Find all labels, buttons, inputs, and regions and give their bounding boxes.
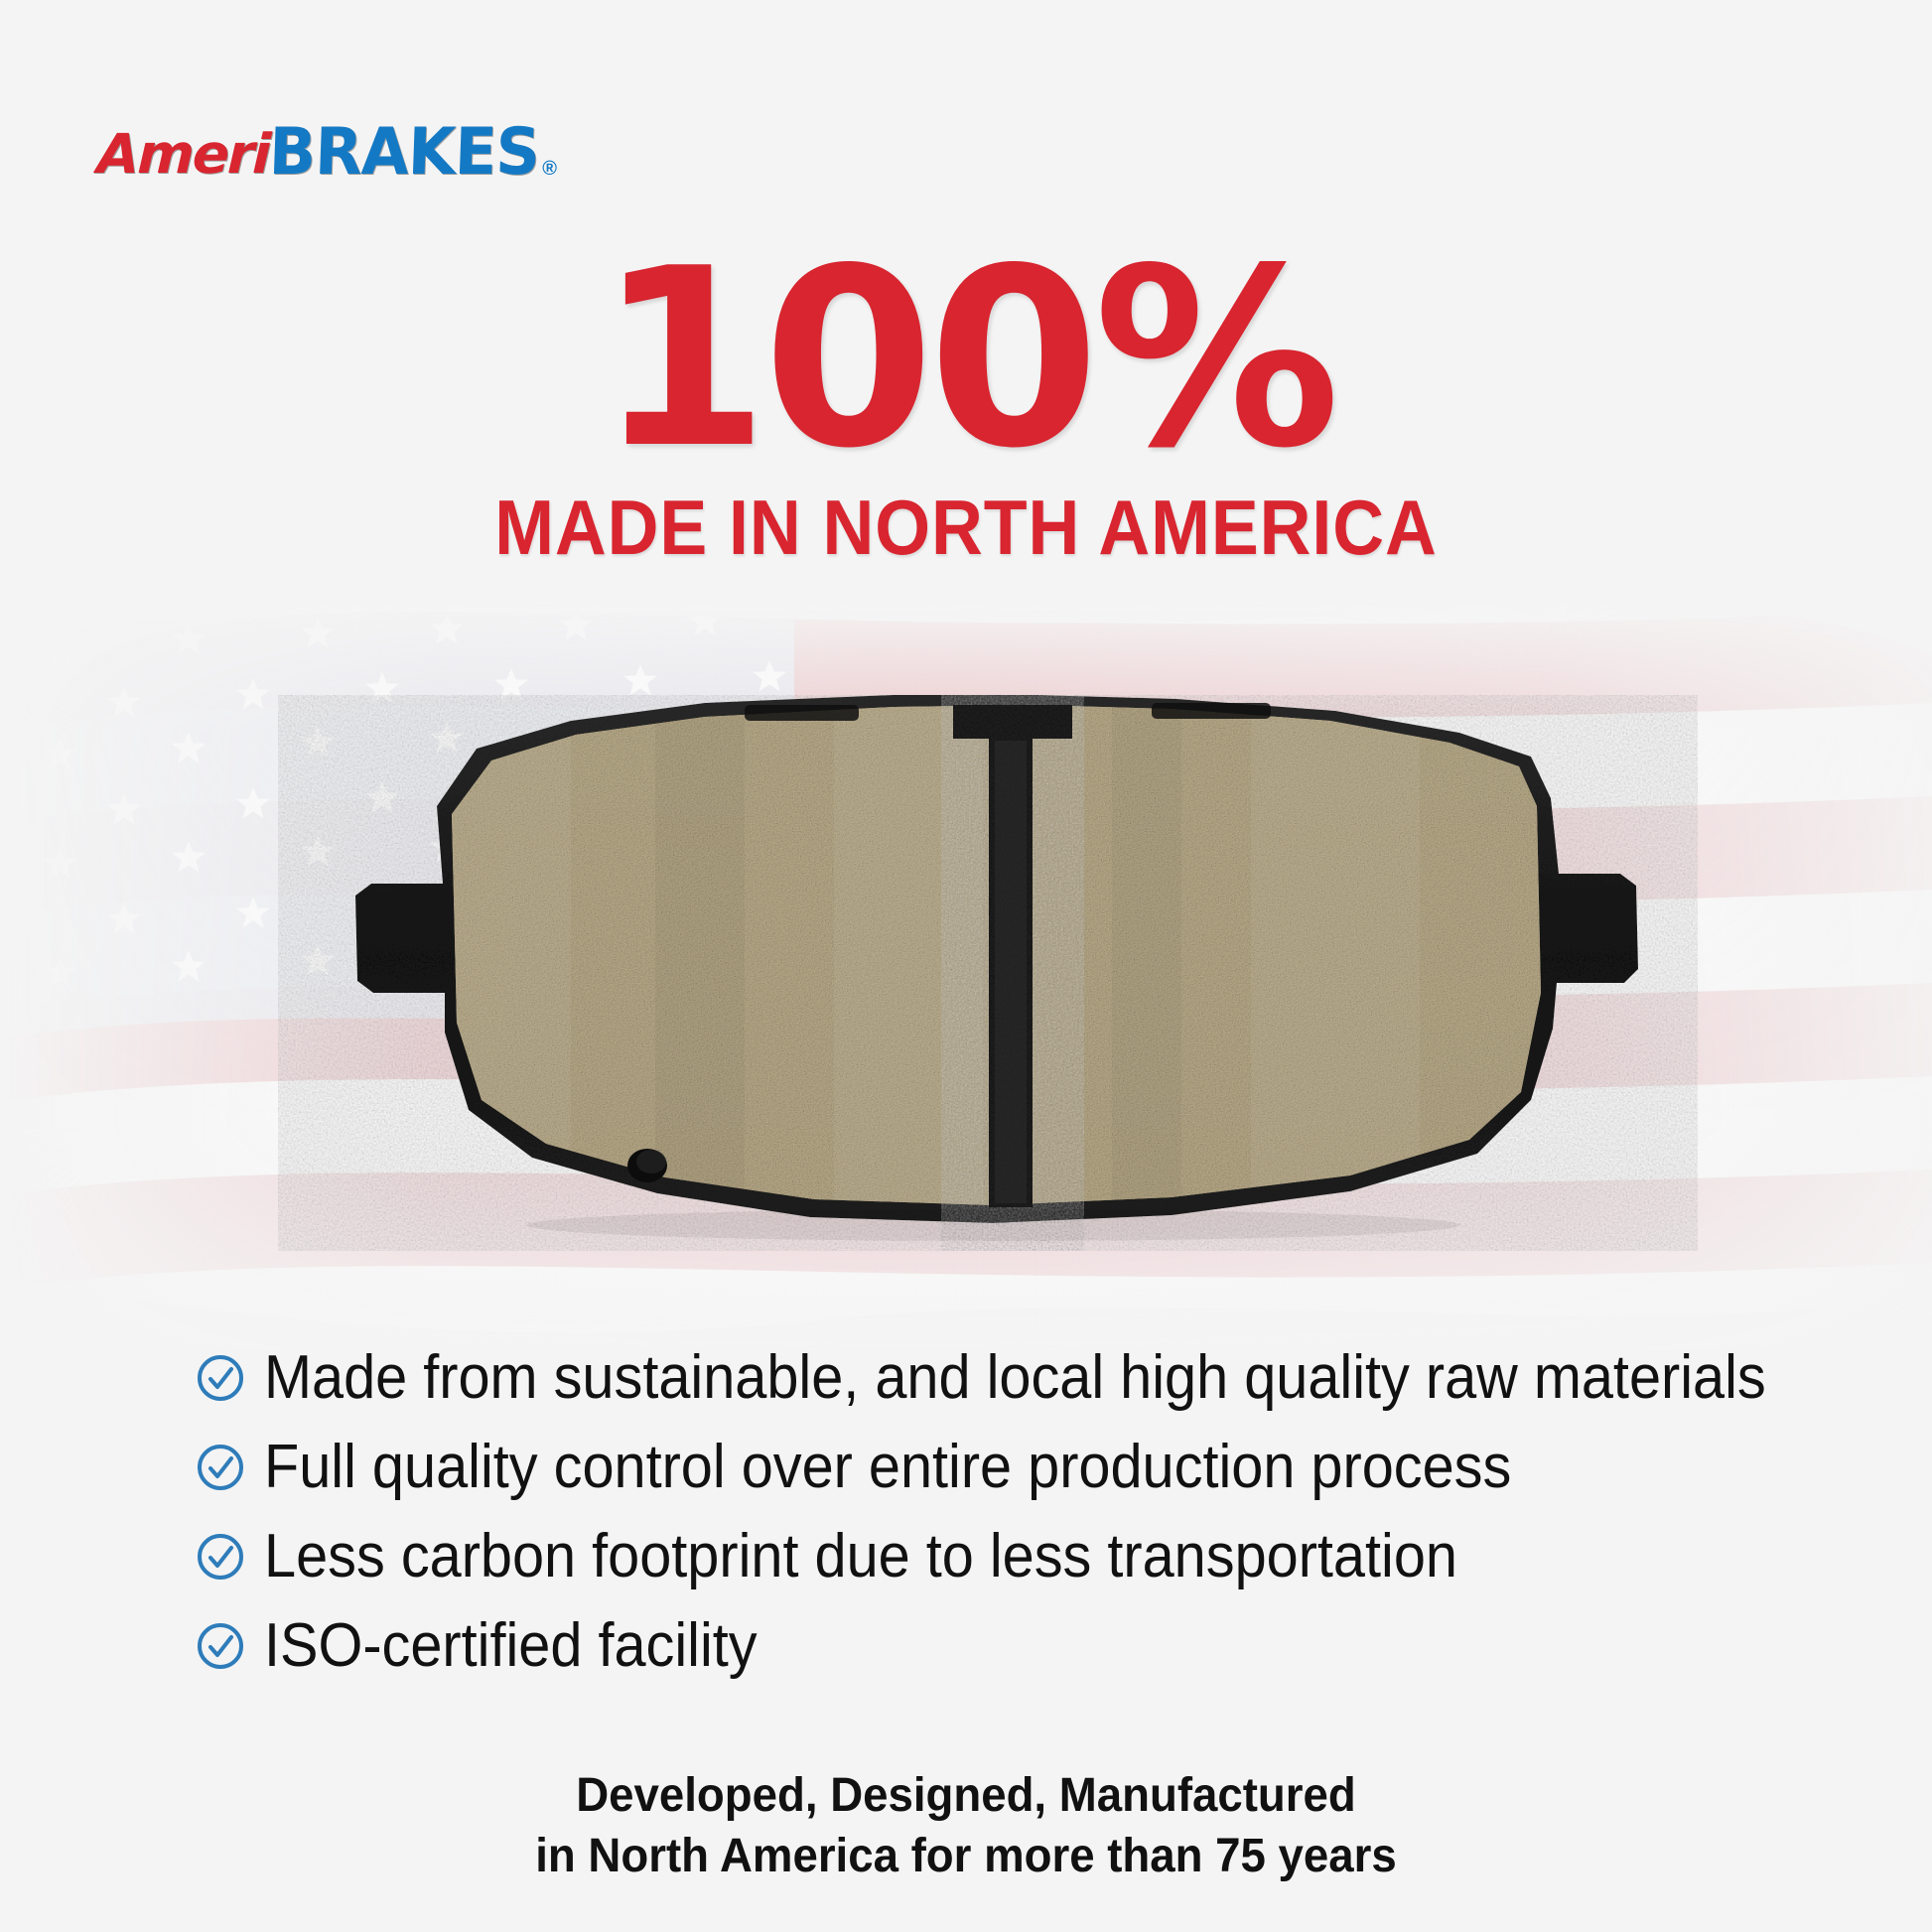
list-item: Made from sustainable, and local high qu…	[195, 1342, 1783, 1414]
check-circle-icon	[195, 1442, 246, 1493]
brand-logo: AmeriBRAKES®	[97, 121, 557, 183]
feature-label: Made from sustainable, and local high qu…	[264, 1347, 1766, 1409]
promo-canvas: AmeriBRAKES®	[0, 0, 1932, 1932]
check-circle-icon	[195, 1352, 246, 1404]
registered-trademark-icon: ®	[542, 159, 557, 183]
headline-subtitle: MADE IN NORTH AMERICA	[77, 483, 1855, 573]
footer-line-2: in North America for more than 75 years	[49, 1826, 1884, 1886]
check-circle-icon	[195, 1531, 246, 1583]
feature-label: Full quality control over entire product…	[264, 1437, 1511, 1498]
logo-text-brakes: BRAKES	[268, 119, 540, 184]
feature-label: Less carbon footprint due to less transp…	[264, 1526, 1457, 1587]
feature-label: ISO-certified facility	[264, 1615, 758, 1677]
list-item: ISO-certified facility	[195, 1610, 1783, 1682]
footer-line-1: Developed, Designed, Manufactured	[49, 1765, 1884, 1826]
headline-percent: 100%	[0, 246, 1932, 473]
feature-list: Made from sustainable, and local high qu…	[195, 1342, 1783, 1700]
logo-text-ameri: Ameri	[96, 127, 270, 182]
brake-pad-product-image	[278, 695, 1698, 1251]
list-item: Full quality control over entire product…	[195, 1432, 1783, 1503]
mounting-hole	[627, 1149, 667, 1182]
brake-pad-icon	[278, 695, 1698, 1251]
list-item: Less carbon footprint due to less transp…	[195, 1521, 1783, 1592]
footer-block: Developed, Designed, Manufactured in Nor…	[0, 1765, 1932, 1887]
check-circle-icon	[195, 1620, 246, 1672]
headline-block: 100% MADE IN NORTH AMERICA	[0, 246, 1932, 573]
